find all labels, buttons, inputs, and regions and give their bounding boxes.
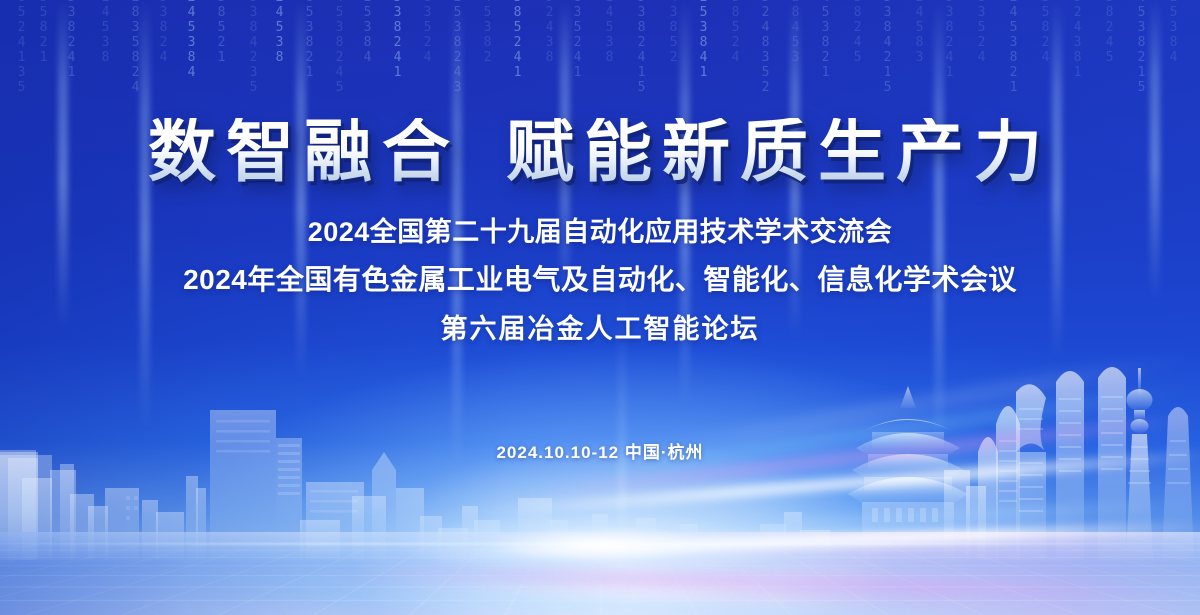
title-part-1: 数智融合 (148, 114, 460, 190)
light-streak (300, 566, 1200, 599)
subtitle-line-3: 第六届冶金人工智能论坛 (0, 307, 1200, 346)
title-part-2: 赋能新质生产力 (506, 114, 1052, 190)
banner-content: 数智融合赋能新质生产力 2024全国第二十九届自动化应用技术学术交流会 2024… (0, 0, 1200, 463)
subtitle-line-1: 2024全国第二十九届自动化应用技术学术交流会 (0, 210, 1200, 249)
light-streak (640, 500, 1200, 536)
light-streak (240, 586, 1199, 615)
subtitle-line-2: 2024年全国有色金属工业电气及自动化、智能化、信息化学术会议 (0, 258, 1200, 298)
date-location-label: 2024.10.10-12 中国·杭州 (0, 438, 1200, 463)
page-title: 数智融合赋能新质生产力 (0, 118, 1200, 186)
light-streak (430, 520, 1200, 560)
conference-banner: 8524135358215382412453828358245382424538… (0, 0, 1200, 615)
light-streak (120, 600, 659, 615)
